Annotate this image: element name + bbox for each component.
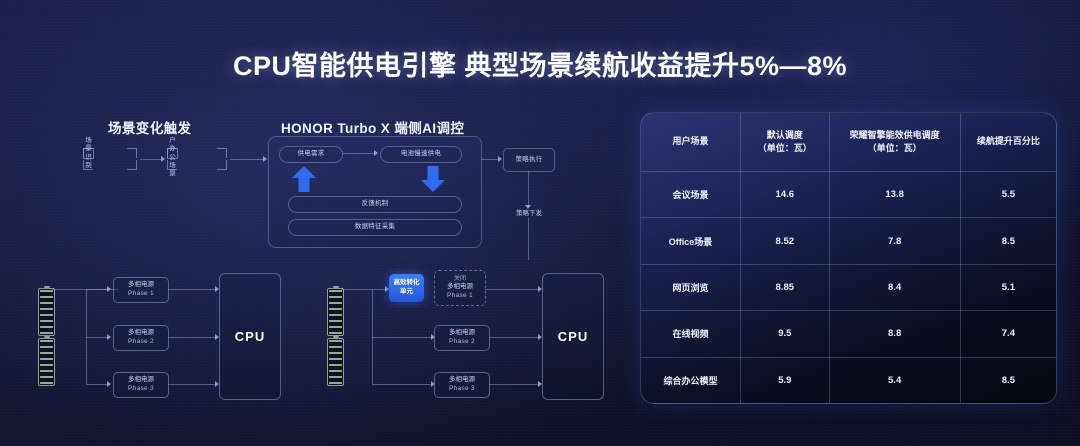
table-header-honor: 荣耀智擎能效供电调度 （单位：瓦） xyxy=(829,113,960,172)
table-header-default: 默认调度 （单位：瓦） xyxy=(741,113,829,172)
connector-arrow xyxy=(107,286,111,292)
page-title: CPU智能供电引擎 典型场景续航收益提升5%—8% xyxy=(0,44,1080,83)
connector-line xyxy=(86,384,108,385)
results-table: 用户场景 默认调度 （单位：瓦） 荣耀智擎能效供电调度 （单位：瓦） 续航提升百… xyxy=(641,113,1056,403)
cell-honor: 5.4 xyxy=(829,357,960,403)
cpu-box-left-label: CPU xyxy=(235,329,265,344)
connector-line xyxy=(528,218,529,260)
table-row: 网页浏览 8.85 8.4 5.1 xyxy=(641,264,1056,310)
node-user-office-scene: 用户办公场景 xyxy=(167,148,227,170)
table-row: 在线视频 9.5 8.8 7.4 xyxy=(641,311,1056,357)
phase-box-2: 多相电源 Phase 2 xyxy=(113,325,169,351)
cell-gain: 5.1 xyxy=(960,264,1056,310)
cell-scene: 在线视频 xyxy=(641,311,741,357)
cell-default: 8.85 xyxy=(741,264,829,310)
connector-line xyxy=(168,289,216,290)
results-table-panel: 用户场景 默认调度 （单位：瓦） 荣耀智擎能效供电调度 （单位：瓦） 续航提升百… xyxy=(640,112,1057,404)
cell-gain: 5.5 xyxy=(960,172,1056,218)
phase-box-1-en: Phase 1 xyxy=(128,290,154,299)
cell-default: 9.5 xyxy=(741,311,829,357)
connector-arrow xyxy=(498,156,502,162)
node-scene-recognition: 场景识别 xyxy=(83,148,137,170)
cpu-box-left: CPU xyxy=(219,273,281,400)
node-battery-slow-charge-label: 电池慢速供电 xyxy=(401,150,441,158)
phase-box-1-cn: 多相电源 xyxy=(128,281,154,290)
table-header-row: 用户场景 默认调度 （单位：瓦） 荣耀智擎能效供电调度 （单位：瓦） 续航提升百… xyxy=(641,113,1056,172)
connector-arrow xyxy=(107,381,111,387)
phase-box-right-3-cn: 多相电源 xyxy=(449,376,475,385)
phase-box-3: 多相电源 Phase 3 xyxy=(113,372,169,398)
connector-line xyxy=(489,384,539,385)
connector-line xyxy=(230,159,264,160)
cell-gain: 7.4 xyxy=(960,311,1056,357)
connector-line xyxy=(372,337,432,338)
connector-arrow xyxy=(161,156,165,162)
cell-honor: 7.8 xyxy=(829,218,960,264)
connector-line xyxy=(140,159,162,160)
battery-icon xyxy=(327,288,344,336)
cell-default: 5.9 xyxy=(741,357,829,403)
cell-scene: 综合办公模型 xyxy=(641,357,741,403)
cell-scene: 会议场景 xyxy=(641,172,741,218)
cell-default: 14.6 xyxy=(741,172,829,218)
battery-icon xyxy=(38,338,55,386)
node-data-feature-collection-label: 数据特征采集 xyxy=(355,223,395,231)
cell-scene: 网页浏览 xyxy=(641,264,741,310)
phase-box-1: 多相电源 Phase 1 xyxy=(113,277,169,303)
conversion-unit-line1: 高效转化 xyxy=(394,279,420,288)
battery-icon xyxy=(327,338,344,386)
node-user-office-scene-label: 用户办公场景 xyxy=(167,148,178,159)
node-feedback-mechanism-label: 反馈机制 xyxy=(362,200,389,208)
connector-arrow xyxy=(107,334,111,340)
cpu-box-right: CPU xyxy=(542,273,604,400)
connector-line xyxy=(341,289,387,290)
connector-line xyxy=(372,384,432,385)
cell-gain: 8.5 xyxy=(960,218,1056,264)
phase-box-right-1-en: Phase 1 xyxy=(447,292,473,301)
phase-box-right-3: 多相电源 Phase 3 xyxy=(434,372,490,398)
connector-line xyxy=(168,384,216,385)
node-strategy-execute-label: 策略执行 xyxy=(516,156,543,164)
phase-box-2-cn: 多相电源 xyxy=(128,329,154,338)
cell-honor: 8.4 xyxy=(829,264,960,310)
connector-line xyxy=(86,289,108,290)
connector-arrow xyxy=(263,156,267,162)
section-title-turbo-x: HONOR Turbo X 端侧AI调控 xyxy=(281,117,464,137)
table-header-gain: 续航提升百分比 xyxy=(960,113,1056,172)
phase-box-3-en: Phase 3 xyxy=(128,385,154,394)
connector-line xyxy=(168,337,216,338)
connector-line xyxy=(86,337,108,338)
arrow-up-icon xyxy=(292,166,316,192)
node-strategy-execute: 策略执行 xyxy=(503,148,555,172)
connector-arrow xyxy=(374,150,378,156)
node-battery-slow-charge: 电池慢速供电 xyxy=(380,146,462,163)
table-row: 会议场景 14.6 13.8 5.5 xyxy=(641,172,1056,218)
phase-box-right-2: 多相电源 Phase 2 xyxy=(434,325,490,351)
connector-line xyxy=(343,153,375,154)
cell-honor: 13.8 xyxy=(829,172,960,218)
phase-box-right-1-cn: 多相电源 xyxy=(447,283,473,292)
cell-scene: Office场景 xyxy=(641,218,741,264)
table-row: 综合办公模型 5.9 5.4 8.5 xyxy=(641,357,1056,403)
phase-box-right-2-en: Phase 2 xyxy=(449,338,475,347)
table-header-scene: 用户场景 xyxy=(641,113,741,172)
phase-box-right-2-cn: 多相电源 xyxy=(449,329,475,338)
node-power-demand-label: 供电需求 xyxy=(298,150,325,158)
phase-box-right-1: 关闭 多相电源 Phase 1 xyxy=(434,270,486,306)
cpu-box-right-label: CPU xyxy=(558,329,588,344)
phase-box-2-en: Phase 2 xyxy=(128,338,154,347)
node-strategy-dispatch-label: 策略下发 xyxy=(500,207,558,217)
connector-line xyxy=(485,289,539,290)
phase-box-right-3-en: Phase 3 xyxy=(449,385,475,394)
battery-icon xyxy=(38,288,55,336)
connector-line xyxy=(489,337,539,338)
table-row: Office场景 8.52 7.8 8.5 xyxy=(641,218,1056,264)
connector-line xyxy=(481,159,499,160)
node-scene-recognition-label: 场景识别 xyxy=(83,148,94,159)
conversion-unit-box: 高效转化 单元 xyxy=(389,274,424,302)
cell-honor: 8.8 xyxy=(829,311,960,357)
phase-box-3-cn: 多相电源 xyxy=(128,376,154,385)
node-feedback-mechanism: 反馈机制 xyxy=(288,196,462,213)
cell-default: 8.52 xyxy=(741,218,829,264)
cell-gain: 8.5 xyxy=(960,357,1056,403)
node-power-demand: 供电需求 xyxy=(279,146,343,163)
arrow-down-icon xyxy=(421,166,445,192)
conversion-unit-line2: 单元 xyxy=(400,288,413,297)
section-title-scene-trigger: 场景变化触发 xyxy=(108,117,191,137)
connector-line xyxy=(528,171,529,207)
node-data-feature-collection: 数据特征采集 xyxy=(288,219,462,236)
